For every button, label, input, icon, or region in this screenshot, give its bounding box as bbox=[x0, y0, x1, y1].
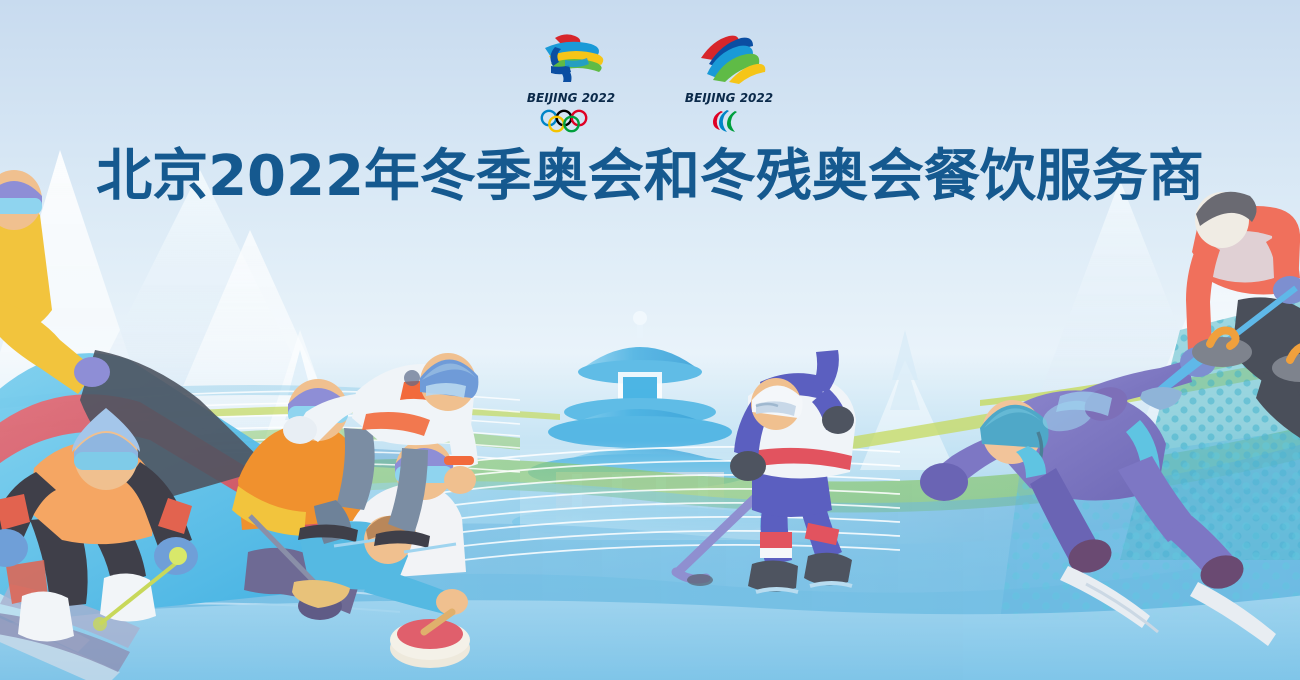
olympic-banner: BEIJING 2022 BEI bbox=[0, 0, 1300, 680]
beijing-2022-olympic-emblem bbox=[525, 30, 617, 84]
olympic-logo-block: BEIJING 2022 bbox=[516, 30, 626, 134]
athlete-ice-hockey-player bbox=[676, 350, 856, 592]
olympic-wordmark-text: BEIJING 2022 bbox=[527, 91, 615, 105]
paralympic-wordmark: BEIJING 2022 bbox=[679, 88, 779, 106]
logo-row: BEIJING 2022 BEI bbox=[0, 30, 1300, 134]
beijing-2022-paralympic-emblem bbox=[683, 30, 775, 84]
athlete-curler-sweeping bbox=[1056, 192, 1300, 438]
paralympic-logo-block: BEIJING 2022 bbox=[674, 30, 784, 134]
paralympic-agitos bbox=[691, 108, 767, 134]
paralympic-wordmark-text: BEIJING 2022 bbox=[685, 91, 773, 105]
olympic-rings bbox=[533, 108, 609, 134]
olympic-wordmark: BEIJING 2022 bbox=[521, 88, 621, 106]
page-title: 北京2022年冬季奥会和冬残奥会餐饮服务商 bbox=[0, 146, 1300, 209]
